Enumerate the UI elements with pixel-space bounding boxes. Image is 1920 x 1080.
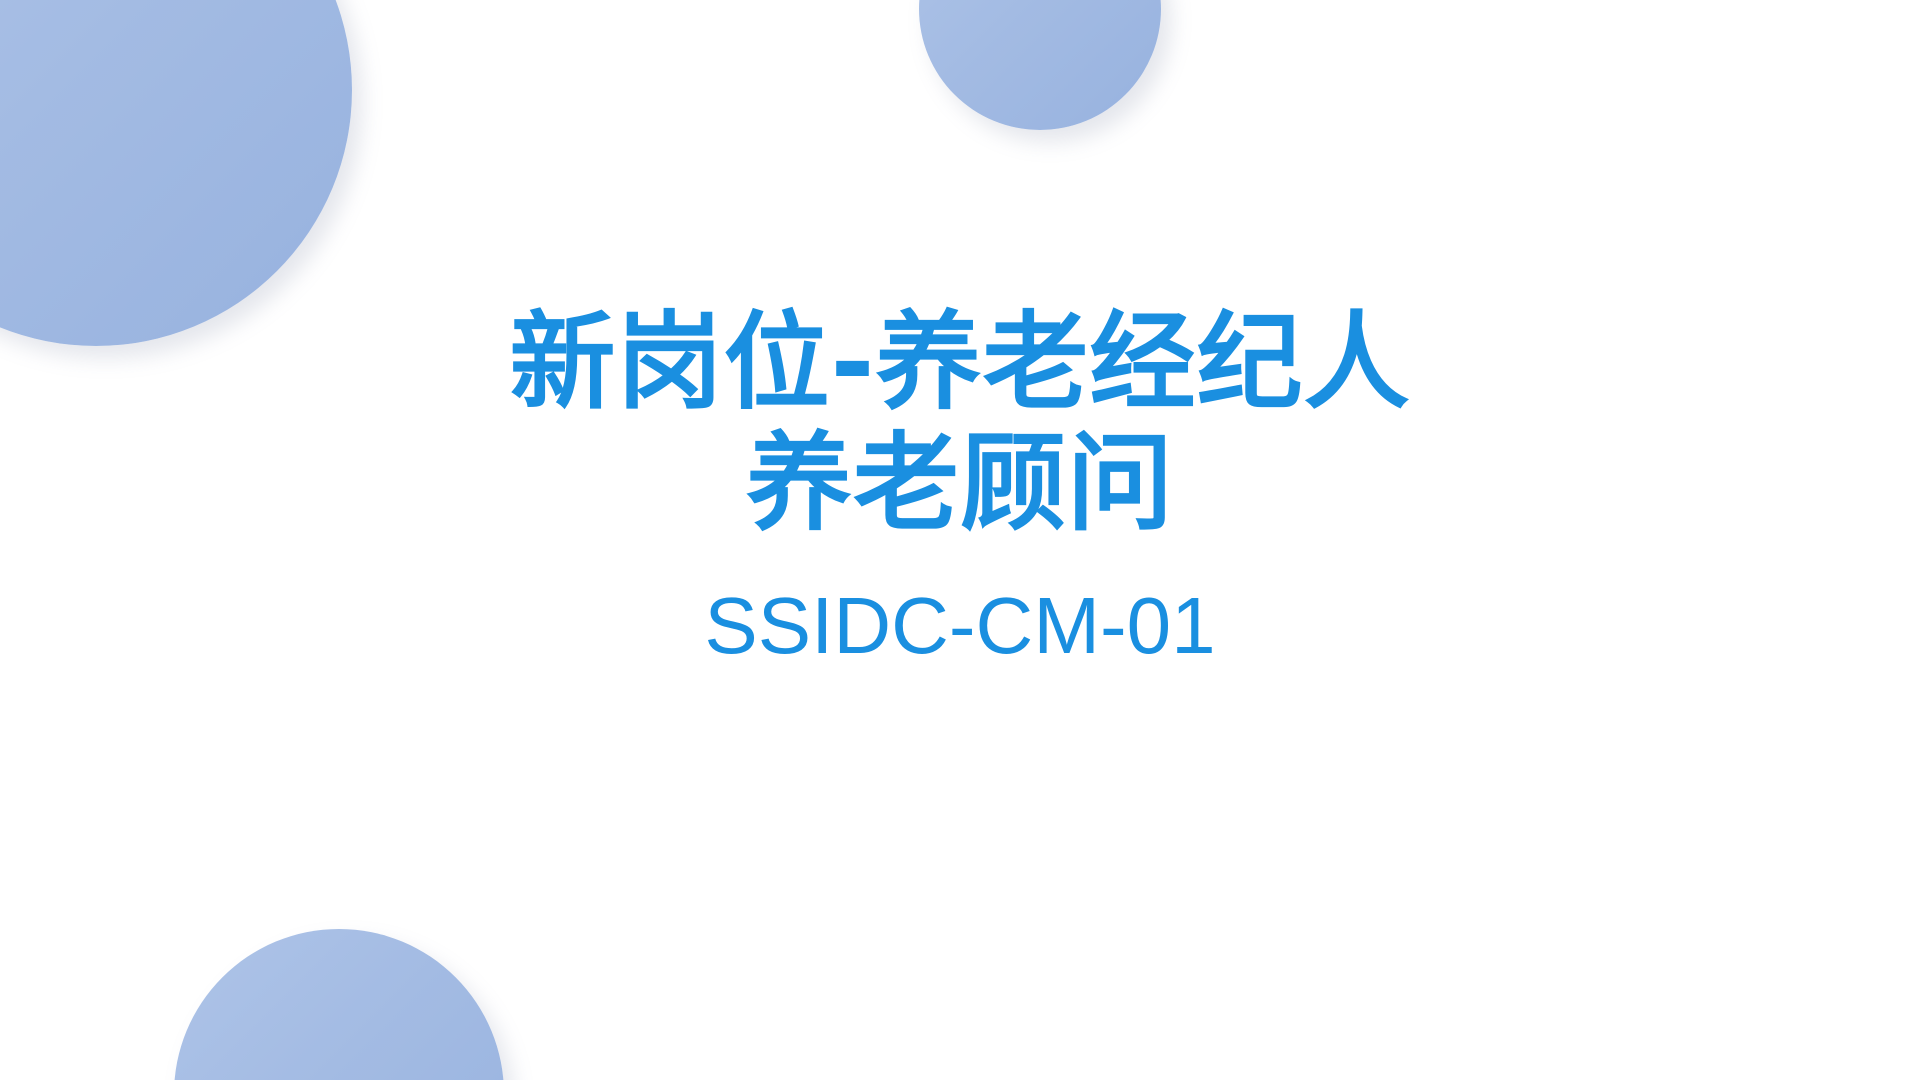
slide-title-line-2: 养老顾问	[410, 424, 1510, 545]
slide-title-line-1: 新岗位-养老经纪人	[410, 303, 1510, 424]
decorative-circle-top-left	[0, 0, 352, 346]
slide-title: 新岗位-养老经纪人 养老顾问	[410, 303, 1510, 545]
title-slide: 新岗位-养老经纪人 养老顾问 SSIDC-CM-01	[0, 0, 1920, 1080]
decorative-circle-top-right	[919, 0, 1161, 130]
slide-subtitle: SSIDC-CM-01	[704, 582, 1215, 670]
decorative-circle-bottom-left	[174, 929, 504, 1080]
